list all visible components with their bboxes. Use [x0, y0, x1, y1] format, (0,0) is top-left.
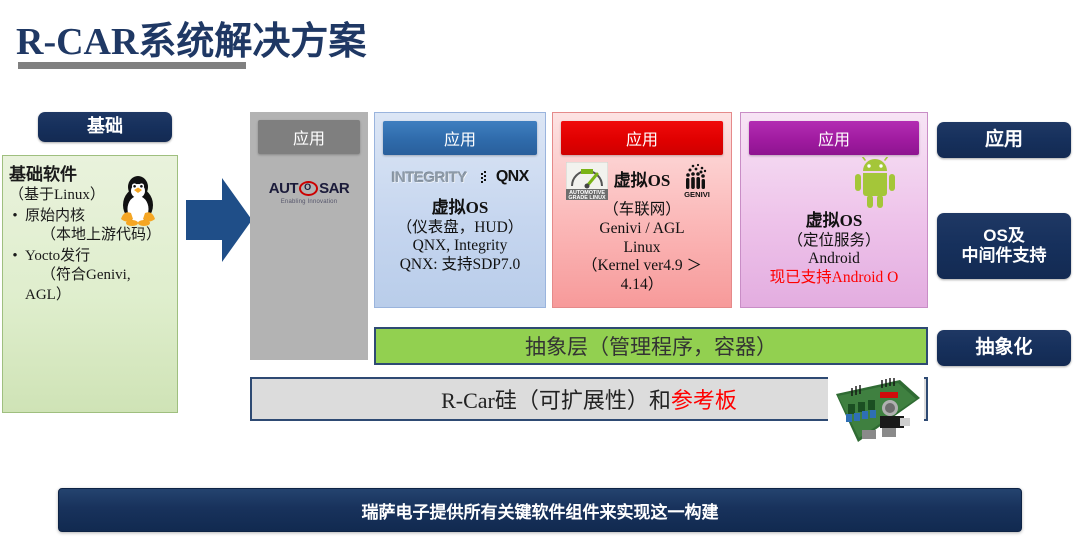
label-abstraction: 抽象化: [937, 330, 1071, 366]
bottom-banner: 瑞萨电子提供所有关键软件组件来实现这一构建: [58, 488, 1022, 532]
label-os-line2: 中间件支持: [962, 246, 1047, 266]
column-header: 应用: [561, 121, 723, 155]
column-header: 应用: [749, 121, 919, 155]
list-item: • Yocto发行 （符合Genivi, AGL）: [9, 247, 171, 306]
column-line: QNX, Integrity: [375, 237, 545, 256]
list-item-line: AGL）: [25, 287, 71, 303]
silicon-bar: R-Car硅（可扩展性）和参考板: [250, 377, 928, 421]
column-body: 虚拟OS （仪表盘，HUD） QNX, Integrity QNX: 支持SDP…: [375, 198, 545, 275]
right-arrow-icon: [186, 176, 252, 264]
title-underline: [18, 62, 246, 69]
label-foundation: 基础: [38, 112, 172, 142]
svg-text:GRADE LINUX: GRADE LINUX: [568, 195, 606, 200]
autosar-logo-mark: O: [299, 181, 318, 196]
column-line: 虚拟OS: [741, 211, 927, 232]
bullet-icon: •: [9, 207, 21, 246]
slide-root: R-CAR系统解决方案 基础 基础软件 （基于Linux） • 原始内核 （本地…: [0, 0, 1080, 548]
silicon-label: R-Car硅（可扩展性）和: [441, 383, 671, 415]
autosar-logo-text: AUT: [269, 180, 298, 197]
logo-row: INTEGRITY QNX: [375, 162, 545, 192]
column-line: （车联网）: [553, 201, 731, 220]
column-line: Linux: [553, 239, 731, 258]
qnx-logo-mark: [481, 171, 494, 184]
page-title: R-CAR系统解决方案: [16, 10, 366, 65]
column-line-highlight: 现已支持Android O: [741, 269, 927, 288]
label-application: 应用: [937, 122, 1071, 158]
label-os-line1: OS及: [962, 226, 1047, 246]
qnx-logo: QNX: [481, 168, 529, 186]
column-line: QNX: 支持SDP7.0: [375, 256, 545, 275]
abstraction-layer-bar: 抽象层（管理程序，容器）: [374, 327, 928, 365]
logo-row: AUTOMOTIVE GRADE LINUX 虚拟OS GENIVI: [553, 161, 731, 201]
bullet-icon: •: [9, 247, 21, 306]
reference-board-photo: [828, 372, 924, 448]
autosar-tagline: Enabling Innovation: [250, 199, 368, 205]
column-virtual-os-android: 应用 虚拟OS （定位服务） Android 现已支持Android O: [740, 112, 928, 308]
genivi-logo: GENIVI: [676, 162, 718, 200]
column-body: （车联网） Genivi / AGL Linux （Kernel ver4.9 …: [553, 201, 731, 295]
column-inline-title: 虚拟OS: [614, 171, 671, 192]
column-body: 虚拟OS （定位服务） Android 现已支持Android O: [741, 211, 927, 288]
column-line: Android: [741, 250, 927, 269]
svg-text:GENIVI: GENIVI: [684, 190, 710, 199]
column-line: （仪表盘，HUD）: [375, 219, 545, 238]
list-item-line: （符合Genivi,: [25, 266, 171, 286]
list-item-line: 原始内核: [25, 208, 85, 224]
silicon-label-highlight: 参考板: [671, 383, 737, 415]
list-item-line: （本地上游代码）: [25, 226, 171, 246]
qnx-logo-text: QNX: [496, 168, 529, 186]
column-line: Genivi / AGL: [553, 220, 731, 239]
autosar-logo: AUT O SAR Enabling Innovation: [250, 180, 368, 205]
automotive-grade-linux-logo: AUTOMOTIVE GRADE LINUX: [566, 162, 608, 200]
label-os-middleware: OS及 中间件支持: [937, 213, 1071, 279]
column-line: 4.14）: [553, 276, 731, 295]
list-item-line: Yocto发行: [25, 248, 90, 264]
column-autosar: 应用 AUT O SAR Enabling Innovation: [250, 112, 368, 360]
linux-penguin-icon: [115, 174, 161, 226]
column-header: 应用: [383, 121, 537, 155]
foundation-software-panel: 基础软件 （基于Linux） • 原始内核 （本地上游代码） • Yocto发行…: [2, 155, 178, 413]
column-line: （定位服务）: [741, 232, 927, 251]
autosar-logo-text: SAR: [319, 180, 349, 197]
android-robot-logo: [849, 157, 901, 209]
list-item-text: Yocto发行 （符合Genivi, AGL）: [25, 247, 171, 306]
integrity-logo: INTEGRITY: [391, 169, 467, 186]
column-line: 虚拟OS: [375, 198, 545, 219]
column-virtual-os-cluster: 应用 INTEGRITY QNX 虚拟OS （仪表盘，HUD） QNX, Int…: [374, 112, 546, 308]
column-line: （Kernel ver4.9 ＞: [553, 257, 731, 276]
column-header: 应用: [258, 120, 360, 154]
column-virtual-os-ivi: 应用 AUTOMOTIVE GRADE LINUX 虚拟OS: [552, 112, 732, 308]
